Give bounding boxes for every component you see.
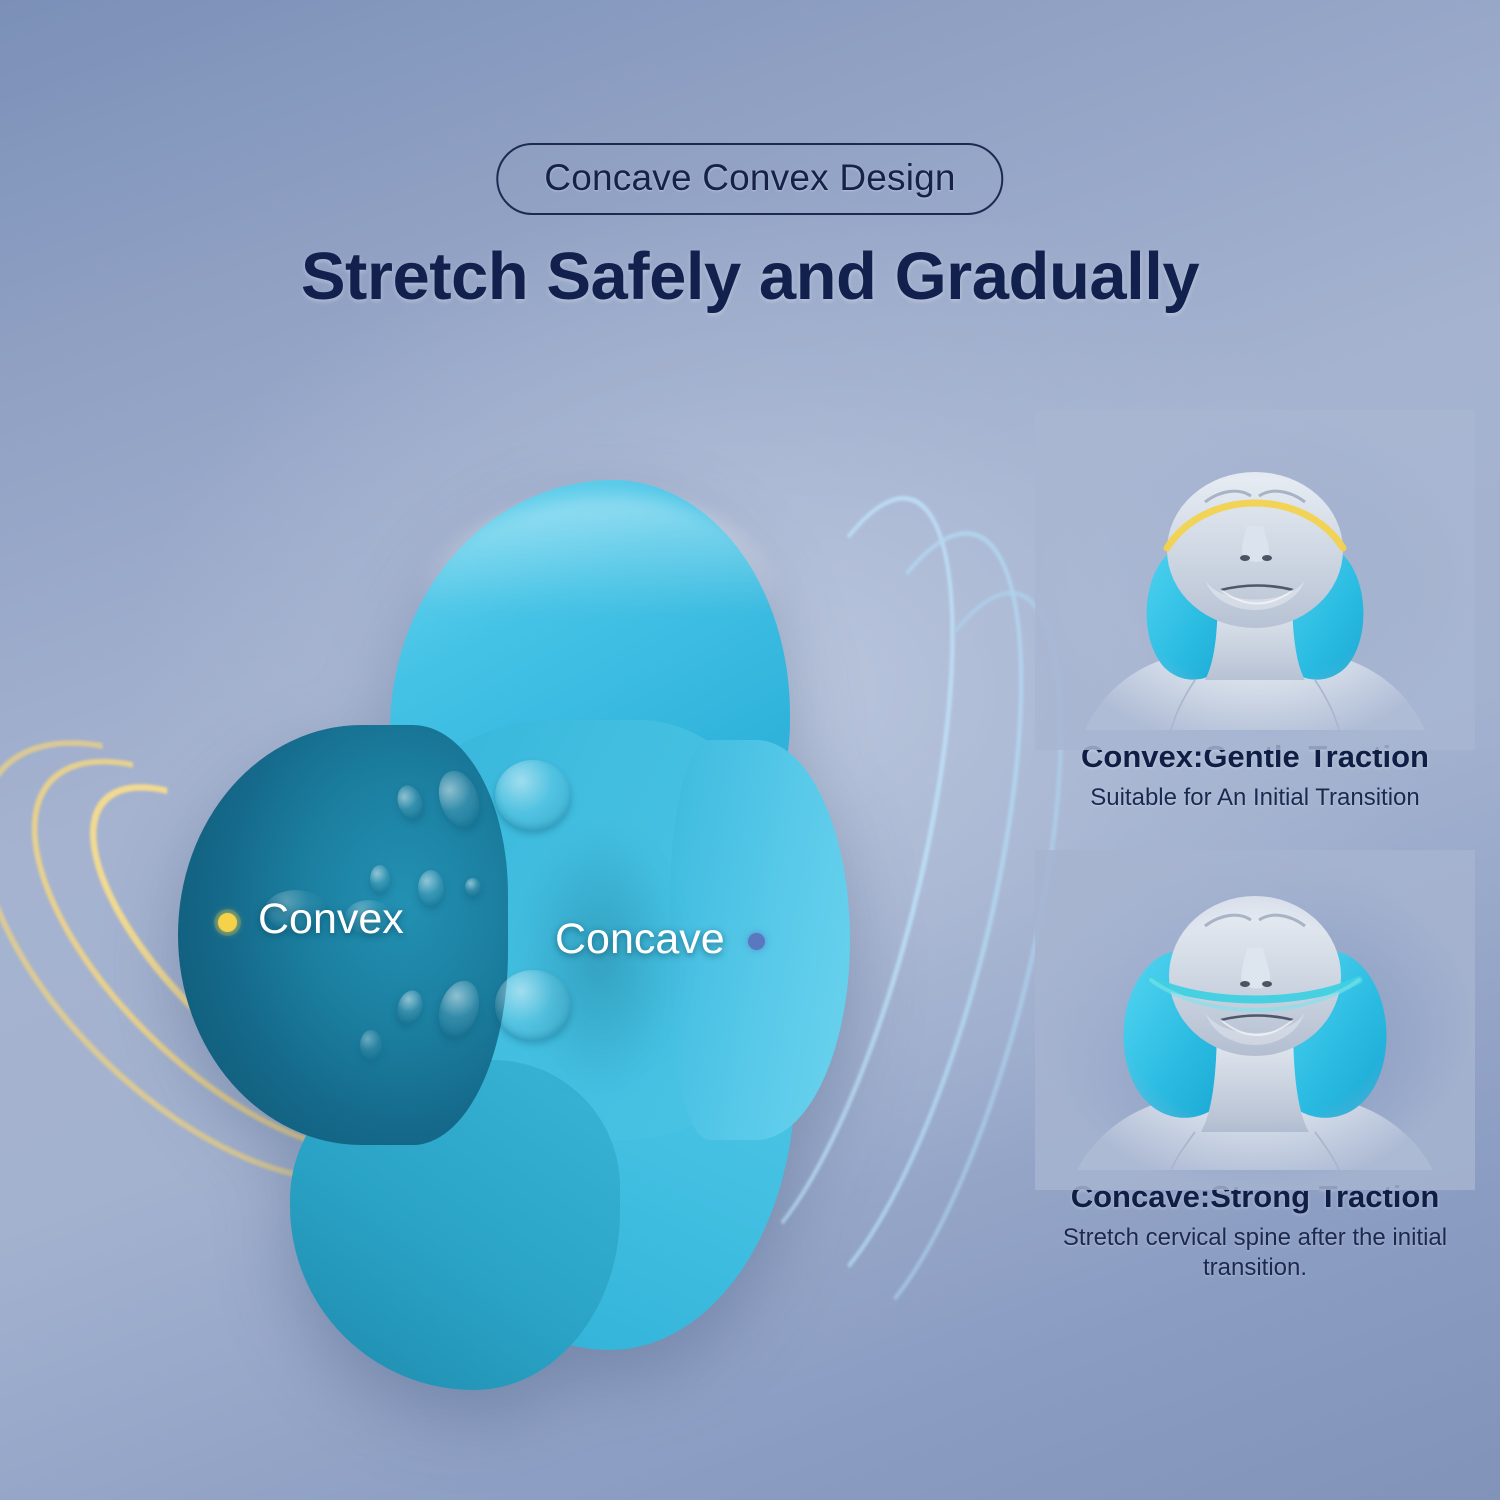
illustration-concave-traction	[1055, 870, 1455, 1170]
acupressure-nub	[495, 760, 571, 830]
illustration-convex-traction	[1055, 430, 1455, 730]
acupressure-nub	[418, 870, 444, 906]
acupressure-nub	[495, 970, 571, 1040]
infographic-canvas: Concave Convex Design Stretch Safely and…	[0, 0, 1500, 1500]
product-pillow: Convex Concave	[170, 470, 790, 1370]
comparison-column: Convex:Gentle Traction Suitable for An I…	[1010, 430, 1500, 1390]
concave-head-figure	[1055, 870, 1455, 1170]
convex-head-figure	[1055, 430, 1455, 730]
comparison-card-convex: Convex:Gentle Traction Suitable for An I…	[1010, 430, 1500, 813]
acupressure-nub	[370, 865, 390, 893]
comparison-card-concave: Concave:Strong Traction Stretch cervical…	[1010, 870, 1500, 1283]
design-badge: Concave Convex Design	[496, 143, 1003, 215]
pillow-rim-light	[420, 495, 780, 615]
page-title: Stretch Safely and Gradually	[301, 243, 1199, 310]
convex-label: Convex	[258, 898, 404, 941]
convex-marker-dot	[218, 913, 237, 932]
acupressure-nub	[465, 878, 481, 896]
concave-label: Concave	[555, 918, 725, 961]
convex-caption-subtitle: Suitable for An Initial Transition	[1010, 783, 1500, 813]
product-stage: Convex Concave	[20, 430, 1020, 1440]
concave-marker-dot	[748, 933, 765, 950]
concave-caption-subtitle: Stretch cervical spine after the initial…	[1010, 1223, 1500, 1283]
acupressure-nub	[360, 1030, 382, 1060]
